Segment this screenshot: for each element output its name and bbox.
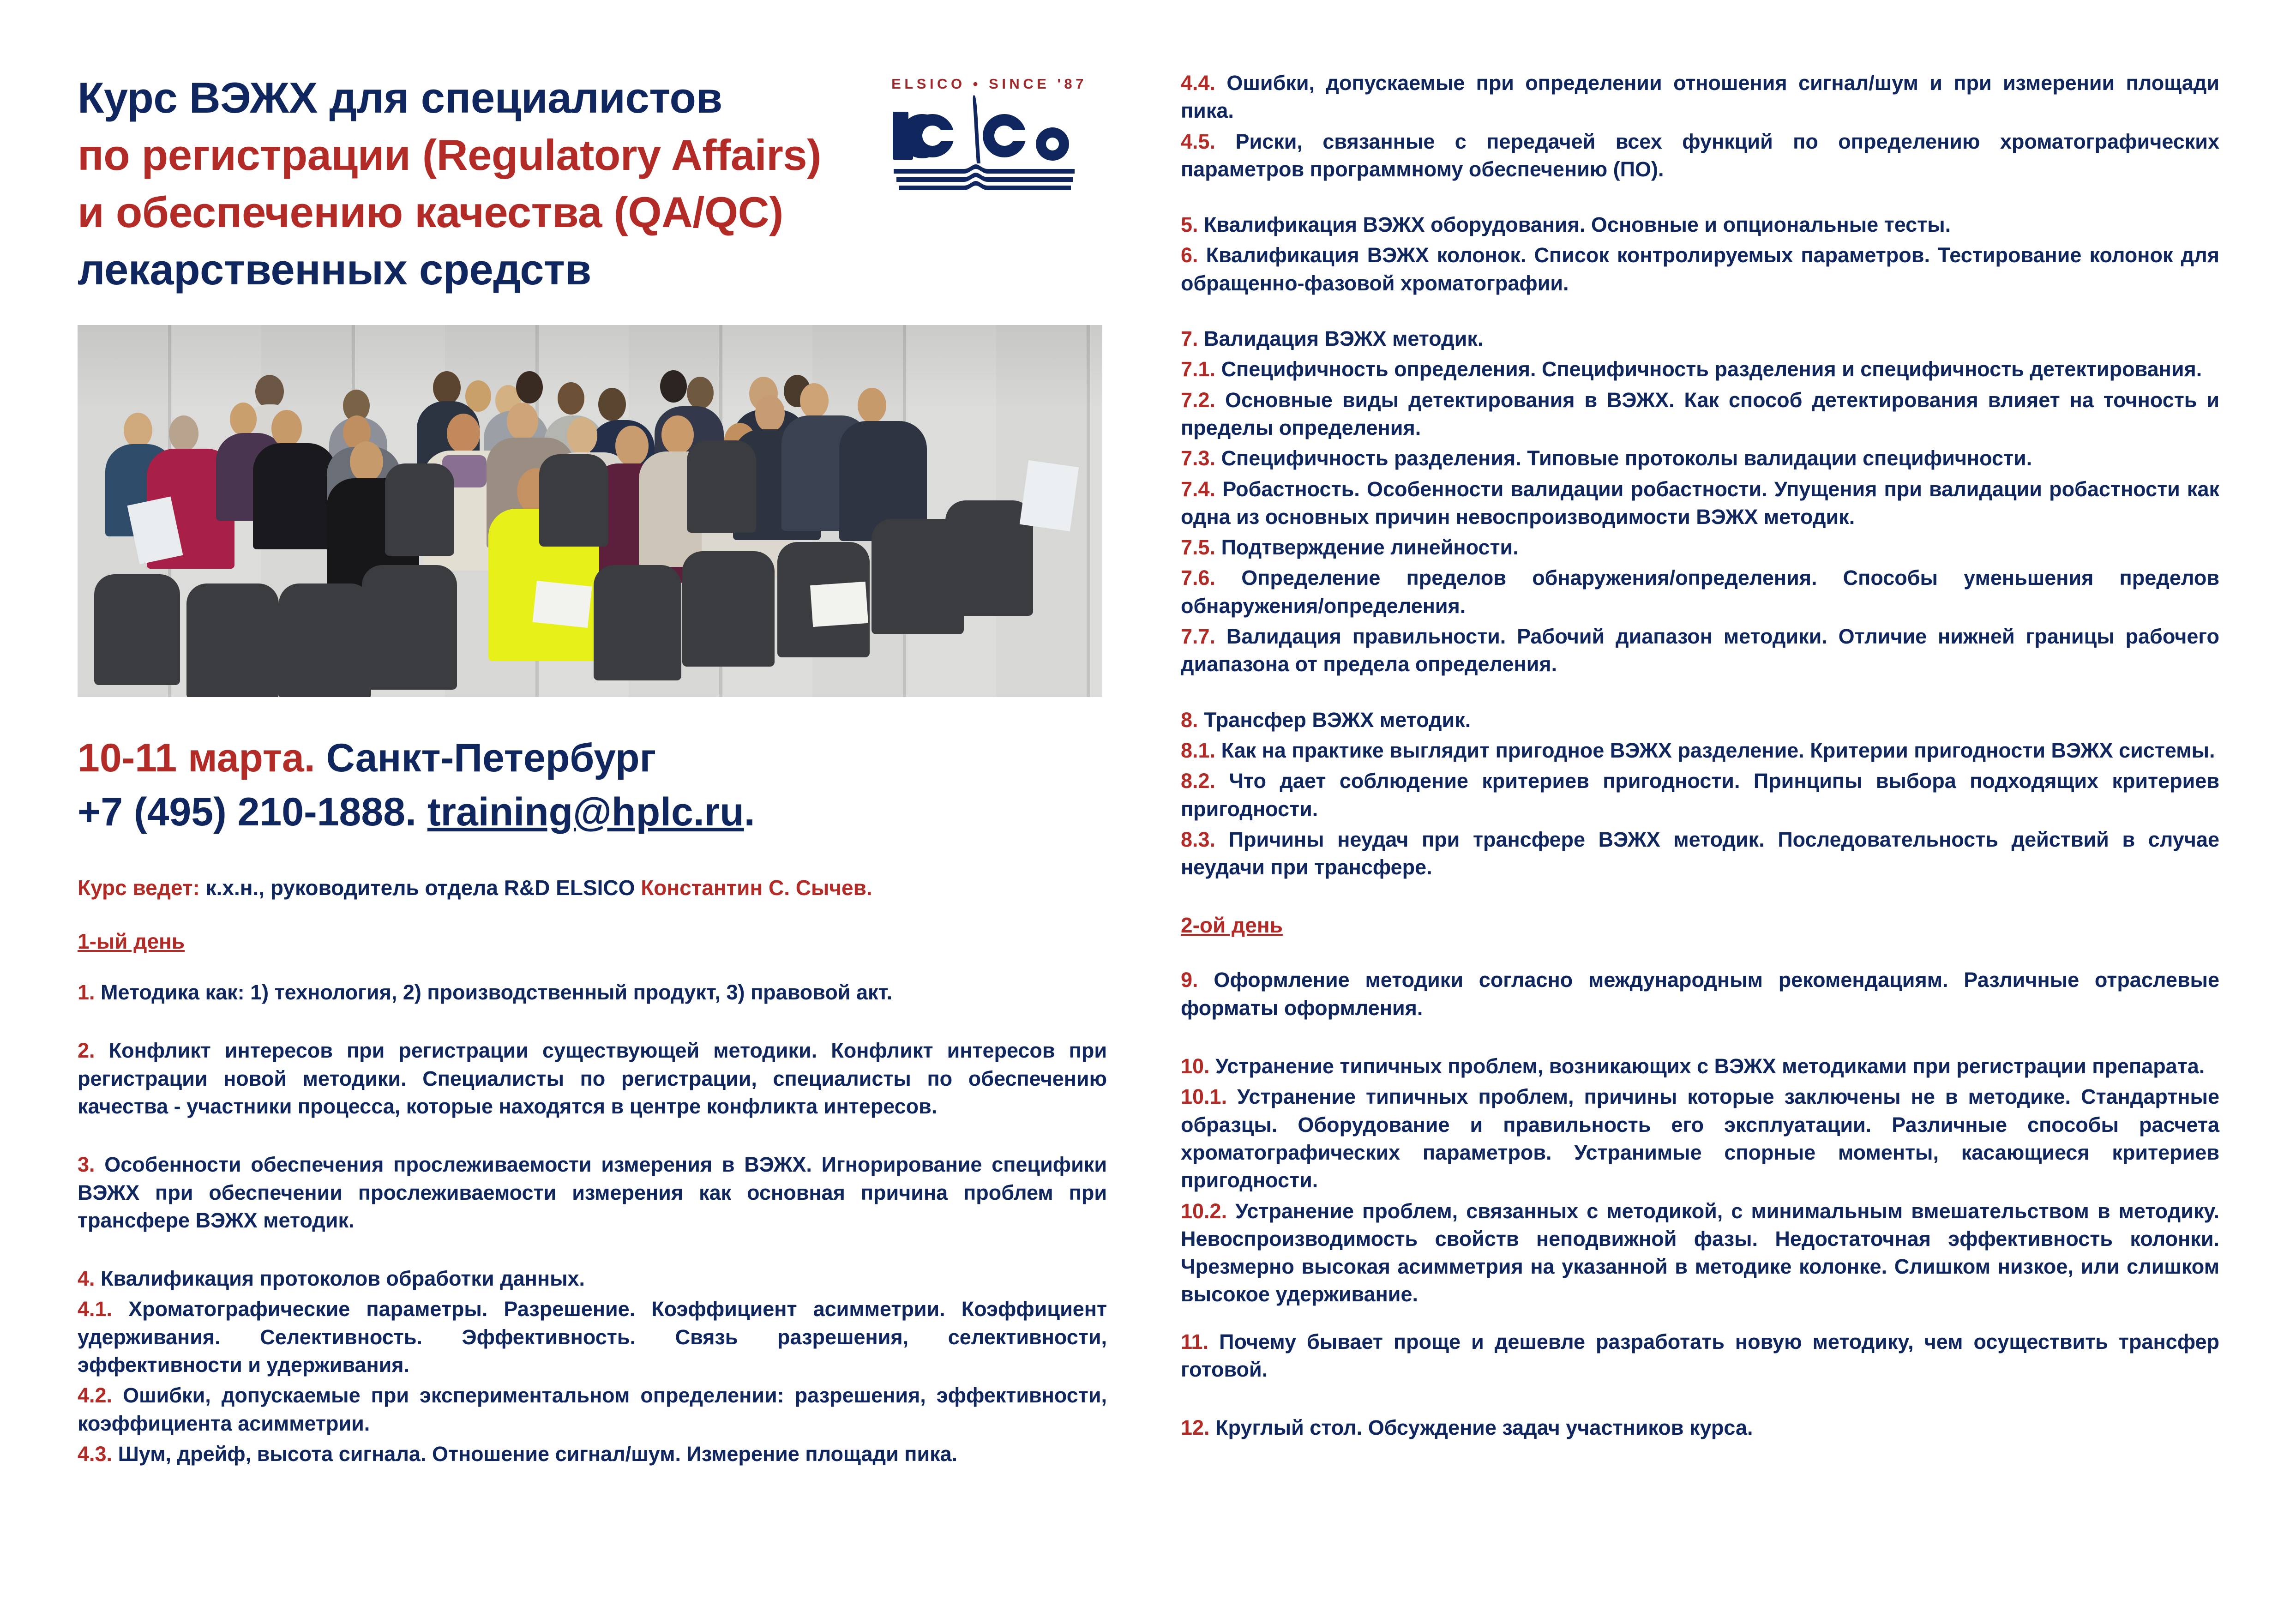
agenda-item: 4.1. Хроматографические параметры. Разре… [78,1295,1107,1379]
agenda-item: 4. Квалификация протоколов обработки дан… [78,1265,1107,1293]
instructor-name: Константин С. Сычев. [641,876,872,900]
logo-tagline: ELSICO • SINCE '87 [890,76,1088,92]
day-1-heading: 1-ый день [78,929,185,954]
seminar-photo [78,325,1102,697]
title-line-4: лекарственных средств [78,241,862,298]
agenda-item-text: Как на практике выглядит пригодное ВЭЖХ … [1215,739,2215,762]
agenda-item: 1. Методика как: 1) технология, 2) произ… [78,979,1107,1006]
agenda-item-number: 12. [1181,1416,1210,1439]
agenda-item-number: 7.4. [1181,477,1215,501]
agenda-item-number: 4.3. [78,1442,112,1466]
agenda-item: 7.4. Робастность. Особенности валидации … [1181,475,2219,531]
agenda-item-text: Что дает соблюдение критериев пригодност… [1181,769,2219,820]
contact-line-phone: +7 (495) 210-1888. training@hplc.ru. [78,785,1107,839]
agenda-item-text: Методика как: 1) технология, 2) производ… [95,980,893,1004]
agenda-item-number: 7. [1181,327,1198,350]
title-line-1: Курс ВЭЖХ для специалистов [78,69,862,126]
agenda-item-number: 6. [1181,243,1198,267]
seminar-photo-image [78,325,1102,697]
agenda-item-text: Подтверждение линейности. [1215,535,1519,559]
agenda-item: 11. Почему бывает проще и дешевле разраб… [1181,1328,2219,1384]
agenda-item-text: Устранение типичных проблем, возникающих… [1210,1054,2205,1078]
agenda-item: 12. Круглый стол. Обсуждение задач участ… [1181,1414,2219,1442]
page-title: Курс ВЭЖХ для специалистов по регистраци… [78,69,862,298]
agenda-item-text: Ошибки, допускаемые при экспериментально… [78,1383,1107,1435]
elsico-logo: ELSICO • SINCE '87 [890,76,1088,195]
agenda-item-number: 11. [1181,1330,1208,1353]
agenda-item-text: Хроматографические параметры. Разрешение… [78,1297,1107,1377]
lcco-logo-icon [890,94,1084,195]
instructor-prefix: Курс ведет: [78,876,200,900]
agenda-item-text: Квалификация ВЭЖХ колонок. Список контро… [1181,243,2219,295]
agenda-item-number: 9. [1181,968,1198,992]
agenda-item-text: Робастность. Особенности валидации робас… [1181,477,2219,529]
agenda-item-number: 1. [78,980,95,1004]
agenda-item-text: Специфичность разделения. Типовые проток… [1215,446,2032,470]
agenda-item-number: 4.1. [78,1297,112,1321]
agenda-item-number: 4. [78,1267,95,1290]
agenda-item-text: Валидация правильности. Рабочий диапазон… [1181,625,2219,676]
agenda-item: 7.7. Валидация правильности. Рабочий диа… [1181,623,2219,679]
agenda-item-number: 4.5. [1181,130,1215,153]
photo-people-layer [78,325,1102,697]
agenda-item-text: Особенности обеспечения прослеживаемости… [78,1153,1107,1232]
agenda-item: 3. Особенности обеспечения прослеживаемо… [78,1151,1107,1234]
agenda-item-number: 4.2. [78,1383,112,1407]
agenda-item-number: 8. [1181,708,1198,732]
agenda-item: 7.2. Основные виды детектирования в ВЭЖХ… [1181,386,2219,442]
agenda-item-text: Трансфер ВЭЖХ методик. [1198,708,1471,732]
agenda-item-text: Шум, дрейф, высота сигнала. Отношение си… [112,1442,957,1466]
email-link[interactable]: training@hplc.ru [427,790,744,834]
agenda-item-number: 7.3. [1181,446,1215,470]
agenda-item-number: 10.2. [1181,1199,1227,1223]
agenda-item: 7.5. Подтверждение линейности. [1181,534,2219,561]
agenda-item-number: 4.4. [1181,71,1215,95]
agenda-item-number: 7.6. [1181,566,1215,589]
contact-block: 10-11 марта. Санкт-Петербург +7 (495) 21… [78,731,1107,839]
agenda-item: 2. Конфликт интересов при регистрации су… [78,1037,1107,1120]
agenda-item-text: Устранение проблем, связанных с методико… [1181,1199,2219,1306]
agenda-item: 4.5. Риски, связанные с передачей всех ф… [1181,128,2219,184]
agenda-item: 10.2. Устранение проблем, связанных с ме… [1181,1197,2219,1309]
agenda-item-text: Квалификация ВЭЖХ оборудования. Основные… [1198,213,1951,236]
agenda-item-number: 7.5. [1181,535,1215,559]
agenda-item-number: 3. [78,1153,95,1176]
agenda-item-text: Определение пределов обнаружения/определ… [1181,566,2219,617]
phone-number[interactable]: +7 (495) 210-1888. [78,790,416,834]
agenda-item: 5. Квалификация ВЭЖХ оборудования. Основ… [1181,211,2219,239]
right-column: 4.4. Ошибки, допускаемые при определении… [1181,69,2219,1456]
agenda-item: 7.6. Определение пределов обнаружения/оп… [1181,564,2219,620]
contact-line-date: 10-11 марта. Санкт-Петербург [78,731,1107,785]
agenda-item-text: Риски, связанные с передачей всех функци… [1181,130,2219,181]
agenda-item: 8. Трансфер ВЭЖХ методик. [1181,706,2219,734]
agenda-item: 8.2. Что дает соблюдение критериев приго… [1181,767,2219,823]
title-line-3: и обеспечению качества (QA/QC) [78,184,862,241]
agenda-item-number: 8.3. [1181,828,1215,851]
agenda-item-text: Валидация ВЭЖХ методик. [1198,327,1484,350]
agenda-item: 10.1. Устранение типичных проблем, причи… [1181,1083,2219,1194]
day-2-heading: 2-ой день [1181,913,1283,938]
agenda-item-text: Специфичность определения. Специфичность… [1215,357,2202,381]
agenda-item-number: 8.1. [1181,739,1215,762]
agenda-item: 8.1. Как на практике выглядит пригодное … [1181,737,2219,764]
agenda-item: 7.3. Специфичность разделения. Типовые п… [1181,445,2219,472]
title-line-2: по регистрации (Regulatory Affairs) [78,126,862,184]
agenda-item: 4.4. Ошибки, допускаемые при определении… [1181,69,2219,125]
instructor-role: к.х.н., руководитель отдела R&D ELSICO [200,876,641,900]
agenda-item: 7. Валидация ВЭЖХ методик. [1181,325,2219,353]
left-column: Курс ВЭЖХ для специалистов по регистраци… [78,69,1107,1471]
agenda-item-number: 10.1. [1181,1085,1227,1108]
agenda-item: 7.1. Специфичность определения. Специфич… [1181,355,2219,383]
agenda-item: 4.2. Ошибки, допускаемые при эксперимент… [78,1382,1107,1438]
agenda-item-text: Круглый стол. Обсуждение задач участнико… [1210,1416,1753,1439]
agenda-item-text: Устранение типичных проблем, причины кот… [1181,1085,2219,1192]
agenda-item-text: Оформление методики согласно международн… [1181,968,2219,1019]
agenda-item-text: Почему бывает проще и дешевле разработат… [1181,1330,2219,1381]
agenda-item: 4.3. Шум, дрейф, высота сигнала. Отношен… [78,1440,1107,1468]
course-flyer-page: Курс ВЭЖХ для специалистов по регистраци… [0,0,2290,1624]
email-trailing-period: . [744,790,755,834]
agenda-item: 8.3. Причины неудач при трансфере ВЭЖХ м… [1181,826,2219,882]
agenda-item-number: 5. [1181,213,1198,236]
agenda-item-number: 7.7. [1181,625,1215,648]
course-city: Санкт-Петербург [326,736,656,780]
instructor-line: Курс ведет: к.х.н., руководитель отдела … [78,874,1107,902]
agenda-item-text: Конфликт интересов при регистрации сущес… [78,1039,1107,1118]
agenda-item-text: Основные виды детектирования в ВЭЖХ. Как… [1181,388,2219,439]
agenda-item-text: Квалификация протоколов обработки данных… [95,1267,585,1290]
agenda-item-text: Ошибки, допускаемые при определении отно… [1181,71,2219,122]
agenda-item: 9. Оформление методики согласно междунар… [1181,966,2219,1022]
header-row: Курс ВЭЖХ для специалистов по регистраци… [78,69,1107,298]
agenda-item-number: 2. [78,1039,95,1062]
agenda-item-number: 8.2. [1181,769,1215,793]
agenda-item-text: Причины неудач при трансфере ВЭЖХ методи… [1181,828,2219,879]
agenda-item-number: 7.1. [1181,357,1215,381]
agenda-item-number: 10. [1181,1054,1210,1078]
course-dates: 10-11 марта. [78,736,315,780]
agenda-item: 6. Квалификация ВЭЖХ колонок. Список кон… [1181,241,2219,297]
agenda-item-number: 7.2. [1181,388,1215,412]
agenda-item: 10. Устранение типичных проблем, возника… [1181,1053,2219,1080]
